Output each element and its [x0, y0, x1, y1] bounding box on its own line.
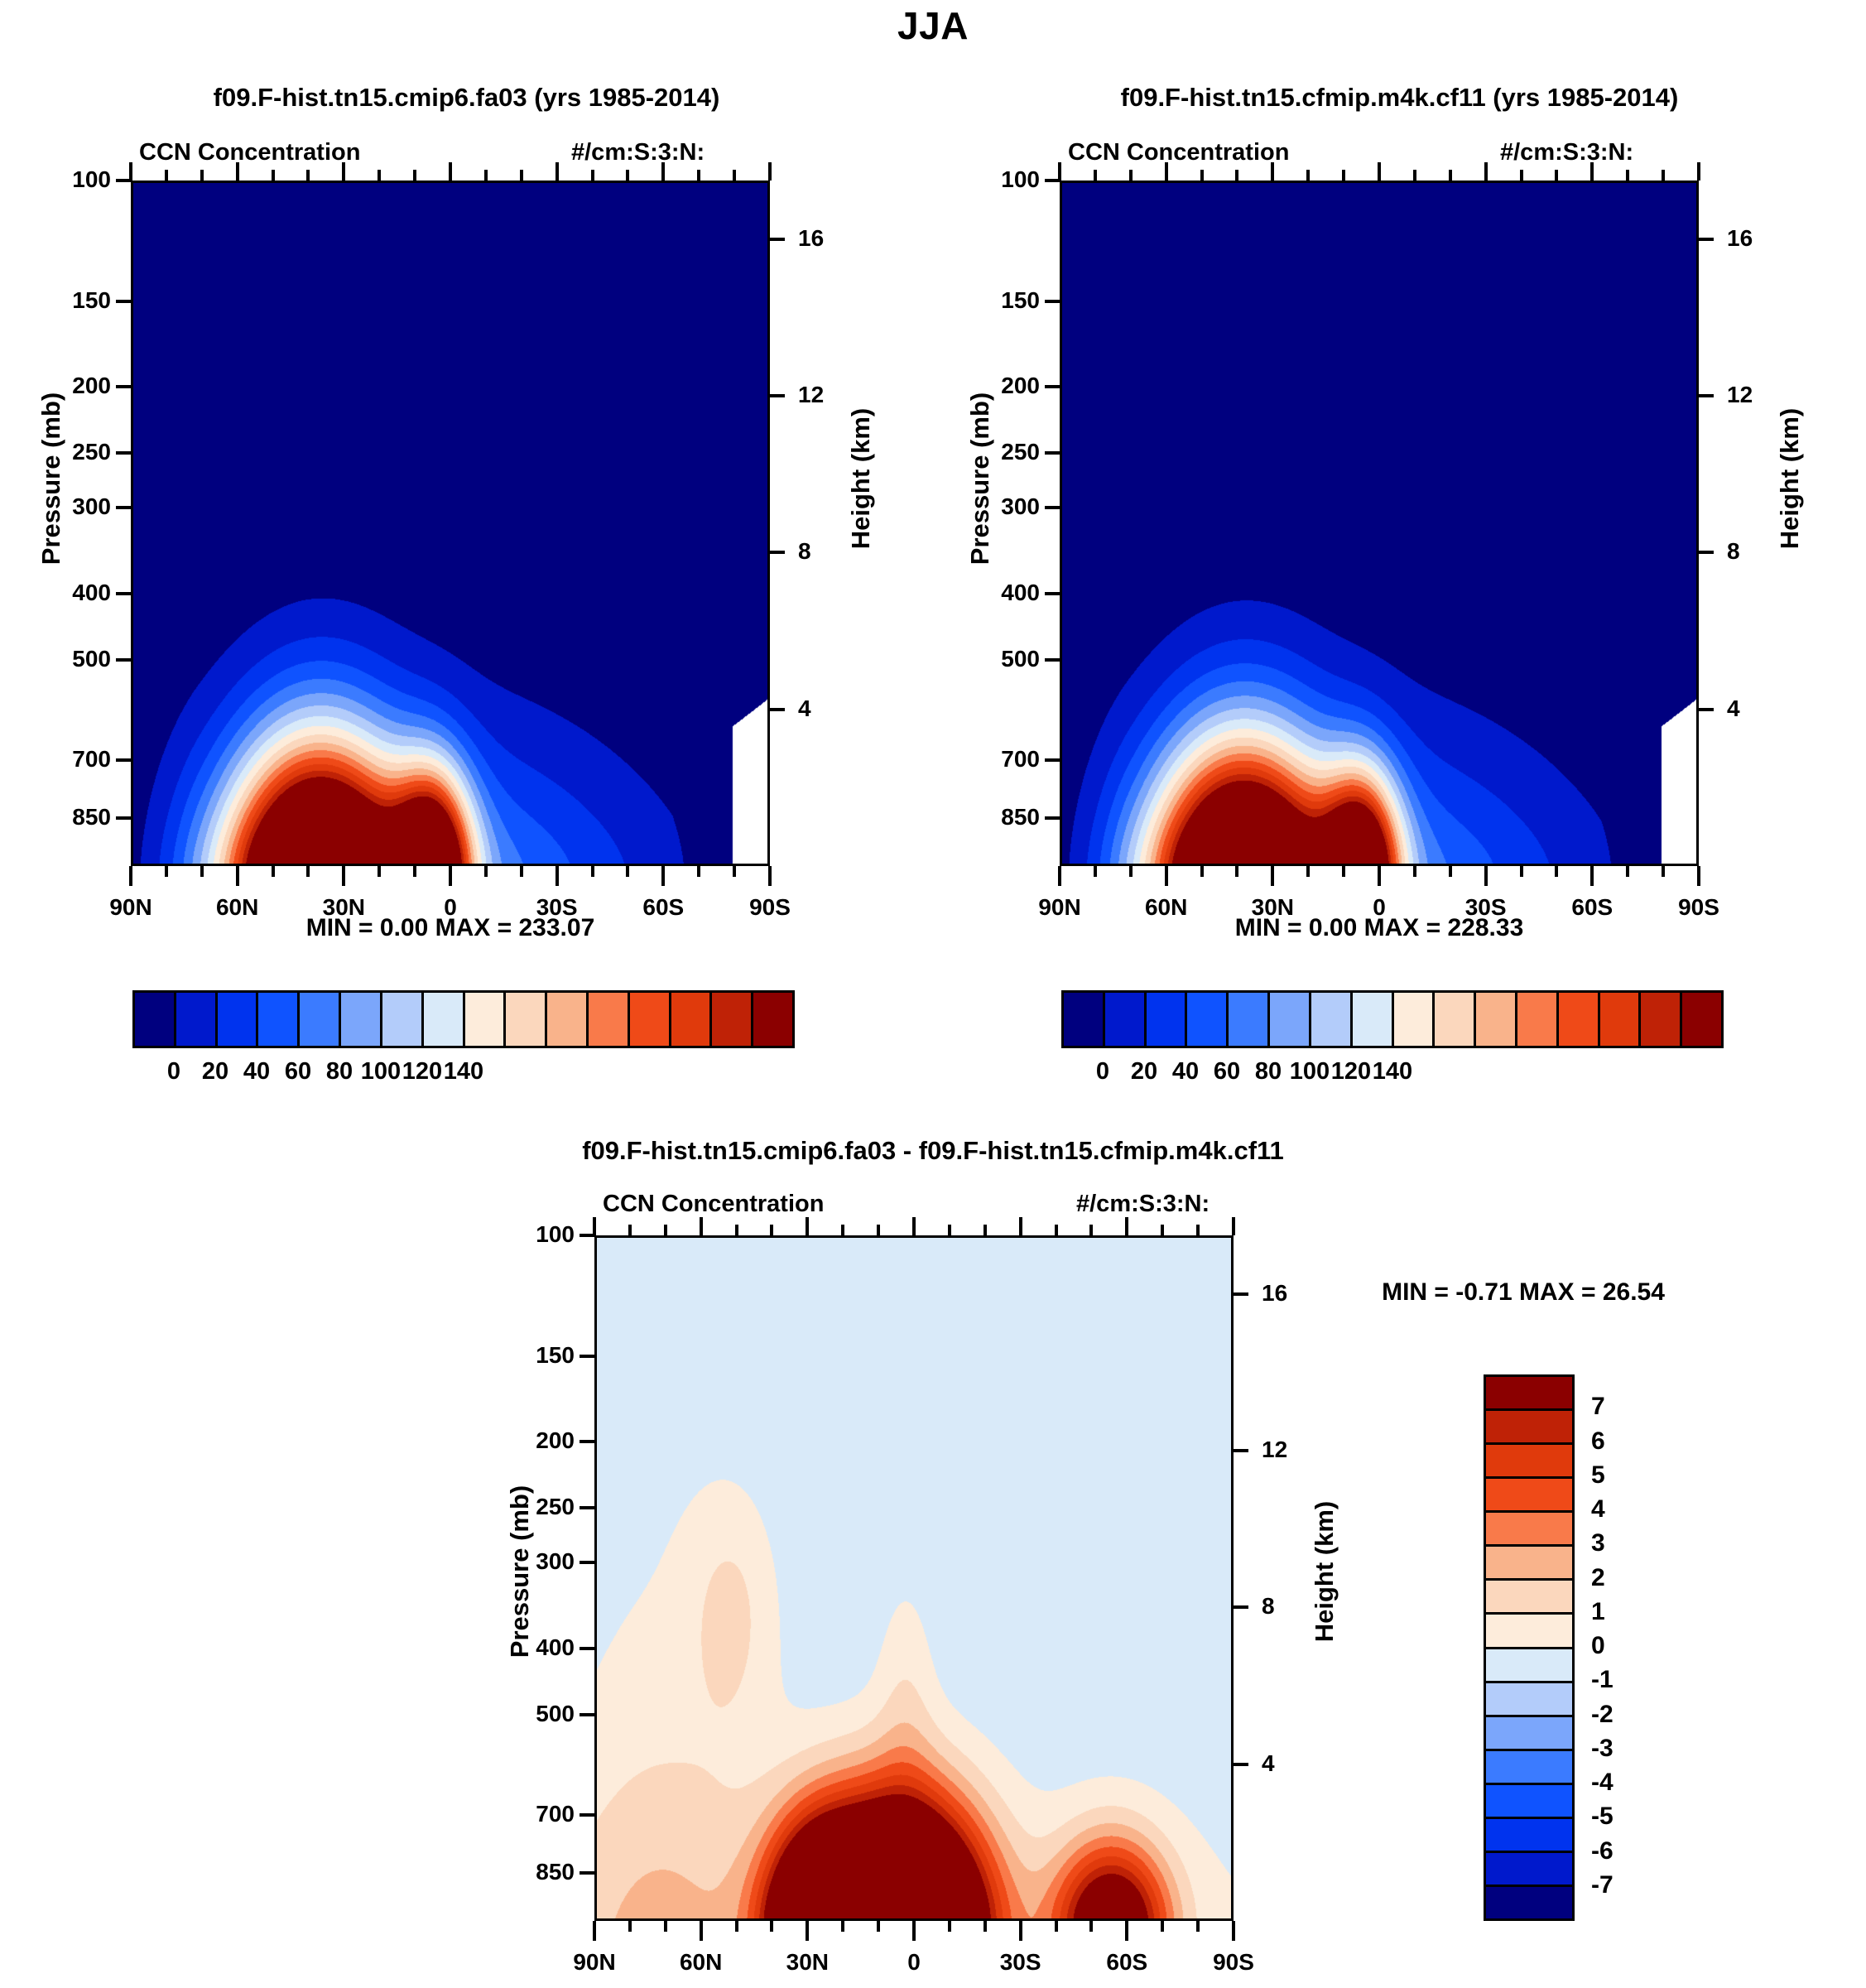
latitude-minor-tick	[1196, 1921, 1200, 1932]
latitude-minor-tick	[1235, 866, 1238, 877]
colorbar-swatch	[1486, 1785, 1572, 1819]
latitude-tick-mark	[1232, 1921, 1235, 1941]
pressure-tick-mark	[116, 451, 131, 455]
latitude-minor-tick	[1094, 866, 1097, 877]
latitude-minor-tick-top	[591, 170, 594, 181]
pressure-tick-label: 850	[508, 1859, 575, 1885]
height-tick-mark	[770, 394, 785, 397]
colorbar-tick-label: 7	[1591, 1393, 1666, 1421]
latitude-major-tick-top	[1165, 162, 1168, 181]
latitude-major-tick-top	[912, 1217, 916, 1235]
colorbar-swatch	[300, 993, 341, 1046]
colorbar-swatch	[1682, 993, 1721, 1046]
pressure-tick-label: 850	[974, 804, 1040, 830]
latitude-minor-tick	[1449, 866, 1452, 877]
latitude-major-tick-top	[1378, 162, 1381, 181]
pressure-tick-label: 250	[974, 439, 1040, 465]
latitude-tick-label: 0	[1321, 894, 1437, 921]
pressure-tick-label: 200	[974, 373, 1040, 399]
colorbar-tick-label: 3	[1591, 1529, 1666, 1557]
colorbar-swatch	[1486, 1717, 1572, 1751]
latitude-major-tick-top	[768, 162, 772, 181]
pressure-tick-label: 700	[508, 1801, 575, 1827]
colorbar-tick-label: -2	[1591, 1701, 1666, 1729]
colorbar-swatch	[1486, 1547, 1572, 1581]
pressure-tick-label: 250	[508, 1494, 575, 1520]
pressure-tick-label: 300	[508, 1548, 575, 1575]
colorbar-swatch	[1486, 1683, 1572, 1717]
latitude-tick-label: 60N	[1109, 894, 1224, 921]
latitude-minor-tick	[948, 1921, 951, 1932]
latitude-tick-mark	[661, 866, 665, 886]
latitude-major-tick-top	[806, 1217, 809, 1235]
panel-bottom-minmax: MIN = -0.71 MAX = 26.54	[1275, 1278, 1772, 1307]
colorbar-swatch	[1641, 993, 1682, 1046]
colorbar-swatch	[1270, 993, 1311, 1046]
latitude-minor-tick-top	[306, 170, 310, 181]
latitude-major-tick-top	[1697, 162, 1700, 181]
latitude-major-tick-top	[1232, 1217, 1235, 1235]
colorbar-swatch	[382, 993, 424, 1046]
height-tick-mark	[1699, 551, 1714, 554]
pressure-tick-mark	[116, 592, 131, 595]
latitude-tick-label: 0	[392, 894, 508, 921]
height-tick-mark	[1699, 394, 1714, 397]
colorbar-swatch	[258, 993, 300, 1046]
latitude-minor-tick	[735, 1921, 738, 1932]
latitude-minor-tick-top	[1555, 170, 1558, 181]
colorbar-tick-label: -3	[1591, 1735, 1666, 1763]
latitude-tick-label: 30S	[1428, 894, 1544, 921]
pressure-tick-label: 100	[974, 166, 1040, 193]
pressure-tick-label: 400	[45, 580, 111, 606]
pressure-tick-mark	[580, 1561, 594, 1564]
colorbar-tick-label: 0	[1591, 1632, 1666, 1660]
latitude-minor-tick-top	[628, 1225, 632, 1235]
pressure-tick-label: 150	[508, 1342, 575, 1369]
colorbar-tick-label: -6	[1591, 1837, 1666, 1865]
latitude-minor-tick	[733, 866, 736, 877]
latitude-minor-tick-top	[1449, 170, 1452, 181]
latitude-tick-label: 90N	[73, 894, 189, 921]
latitude-tick-label: 60S	[1534, 894, 1650, 921]
pressure-tick-mark	[580, 1713, 594, 1716]
latitude-tick-label: 60N	[180, 894, 296, 921]
latitude-tick-mark	[700, 1921, 703, 1941]
latitude-minor-tick-top	[664, 1225, 667, 1235]
latitude-tick-label: 30S	[963, 1949, 1079, 1976]
colorbar-swatch	[1486, 1513, 1572, 1547]
latitude-minor-tick	[306, 866, 310, 877]
panel-left-plot-area	[131, 181, 770, 866]
colorbar-swatch	[1486, 1751, 1572, 1785]
pressure-tick-mark	[116, 816, 131, 820]
pressure-tick-mark	[580, 1355, 594, 1358]
latitude-tick-mark	[1697, 866, 1700, 886]
panel-left-variable: CCN Concentration	[139, 139, 360, 166]
latitude-minor-tick	[664, 1921, 667, 1932]
colorbar-tick-label: 5	[1591, 1461, 1666, 1490]
latitude-minor-tick-top	[1413, 170, 1416, 181]
latitude-major-tick-top	[1484, 162, 1488, 181]
height-tick-mark	[1699, 708, 1714, 711]
latitude-minor-tick	[1055, 1921, 1058, 1932]
latitude-major-tick-top	[1590, 162, 1594, 181]
colorbar-difference	[1484, 1374, 1575, 1921]
latitude-minor-tick	[378, 866, 381, 877]
latitude-major-tick-top	[129, 162, 132, 181]
colorbar-swatch	[341, 993, 382, 1046]
height-tick-label: 16	[1727, 225, 1793, 252]
colorbar-swatch	[135, 993, 176, 1046]
pressure-tick-label: 100	[45, 166, 111, 193]
pressure-tick-label: 500	[508, 1701, 575, 1727]
latitude-minor-tick	[591, 866, 594, 877]
panel-right-yaxis-label: Pressure (mb)	[965, 387, 995, 570]
colorbar-swatch	[1105, 993, 1147, 1046]
latitude-tick-mark	[449, 866, 452, 886]
panel-bottom-title: f09.F-hist.tn15.cmip6.fa03 - f09.F-hist.…	[0, 1136, 1866, 1166]
colorbar-swatch	[1486, 1479, 1572, 1513]
latitude-tick-mark	[806, 1921, 809, 1941]
colorbar-tick-label: 140	[414, 1058, 513, 1085]
latitude-minor-tick	[1161, 1921, 1164, 1932]
pressure-tick-label: 850	[45, 804, 111, 830]
latitude-minor-tick-top	[983, 1225, 987, 1235]
height-tick-mark	[1234, 1763, 1248, 1766]
panel-left-yaxis-label: Pressure (mb)	[36, 387, 66, 570]
colorbar-swatch	[1486, 1853, 1572, 1887]
pressure-tick-label: 700	[974, 746, 1040, 773]
latitude-minor-tick-top	[948, 1225, 951, 1235]
latitude-tick-label: 0	[856, 1949, 972, 1976]
latitude-minor-tick	[484, 866, 488, 877]
latitude-major-tick-top	[700, 1217, 703, 1235]
pressure-tick-label: 150	[974, 287, 1040, 314]
latitude-minor-tick	[877, 1921, 880, 1932]
pressure-tick-label: 400	[974, 580, 1040, 606]
height-tick-label: 8	[1262, 1593, 1328, 1620]
colorbar-swatch	[1486, 1581, 1572, 1615]
colorbar-swatch	[1559, 993, 1600, 1046]
colorbar-swatch	[712, 993, 753, 1046]
colorbar-tick-label: -7	[1591, 1871, 1666, 1899]
pressure-tick-mark	[1045, 816, 1060, 820]
latitude-tick-label: 30N	[286, 894, 402, 921]
latitude-minor-tick-top	[697, 170, 700, 181]
latitude-tick-label: 60S	[1069, 1949, 1185, 1976]
panel-right-title: f09.F-hist.tn15.cfmip.m4k.cf11 (yrs 1985…	[933, 83, 1866, 113]
latitude-tick-mark	[912, 1921, 916, 1941]
height-tick-label: 8	[1727, 538, 1793, 565]
latitude-tick-mark	[1378, 866, 1381, 886]
colorbar-swatch	[1486, 1819, 1572, 1853]
latitude-major-tick-top	[449, 162, 452, 181]
latitude-minor-tick	[1200, 866, 1204, 877]
colorbar-right	[1061, 990, 1724, 1048]
colorbar-swatch	[1600, 993, 1642, 1046]
latitude-minor-tick	[1129, 866, 1133, 877]
pressure-tick-mark	[1045, 451, 1060, 455]
latitude-tick-mark	[1271, 866, 1274, 886]
height-tick-label: 12	[1727, 382, 1793, 408]
height-tick-label: 4	[1727, 696, 1793, 722]
latitude-tick-label: 90S	[1641, 894, 1757, 921]
pressure-tick-label: 300	[45, 493, 111, 520]
pressure-tick-mark	[1045, 658, 1060, 662]
latitude-minor-tick-top	[1235, 170, 1238, 181]
latitude-minor-tick-top	[1306, 170, 1310, 181]
latitude-tick-mark	[236, 866, 239, 886]
latitude-minor-tick	[1662, 866, 1665, 877]
panel-left-title: f09.F-hist.tn15.cmip6.fa03 (yrs 1985-201…	[0, 83, 933, 113]
latitude-minor-tick-top	[770, 1225, 773, 1235]
latitude-tick-label: 60S	[605, 894, 721, 921]
latitude-minor-tick	[697, 866, 700, 877]
latitude-tick-label: 30N	[1214, 894, 1330, 921]
pressure-tick-mark	[116, 758, 131, 762]
latitude-minor-tick-top	[165, 170, 168, 181]
colorbar-swatch	[1435, 993, 1476, 1046]
pressure-tick-mark	[580, 1440, 594, 1443]
latitude-minor-tick	[1555, 866, 1558, 877]
pressure-tick-label: 250	[45, 439, 111, 465]
panel-bottom-variable: CCN Concentration	[603, 1191, 824, 1218]
pressure-tick-label: 200	[508, 1427, 575, 1454]
latitude-minor-tick-top	[1089, 1225, 1093, 1235]
colorbar-left	[132, 990, 795, 1048]
latitude-minor-tick	[200, 866, 204, 877]
pressure-tick-mark	[116, 385, 131, 388]
colorbar-swatch	[1486, 1649, 1572, 1683]
height-tick-mark	[770, 551, 785, 554]
latitude-tick-label: 30N	[749, 1949, 865, 1976]
colorbar-tick-label: 1	[1591, 1598, 1666, 1626]
latitude-minor-tick-top	[1520, 170, 1523, 181]
panel-right-plot-area	[1060, 181, 1699, 866]
height-tick-label: 8	[798, 538, 864, 565]
pressure-tick-mark	[1045, 300, 1060, 303]
latitude-minor-tick	[165, 866, 168, 877]
latitude-tick-mark	[593, 1921, 596, 1941]
latitude-major-tick-top	[1019, 1217, 1022, 1235]
latitude-tick-mark	[129, 866, 132, 886]
colorbar-swatch	[1476, 993, 1517, 1046]
latitude-minor-tick-top	[1662, 170, 1665, 181]
latitude-minor-tick-top	[733, 170, 736, 181]
latitude-minor-tick-top	[1626, 170, 1629, 181]
latitude-minor-tick-top	[484, 170, 488, 181]
latitude-major-tick-top	[342, 162, 345, 181]
height-tick-mark	[1699, 238, 1714, 241]
latitude-minor-tick-top	[520, 170, 523, 181]
pressure-tick-mark	[580, 1813, 594, 1817]
latitude-tick-label: 90S	[1176, 1949, 1291, 1976]
latitude-minor-tick-top	[413, 170, 416, 181]
latitude-tick-label: 90S	[712, 894, 828, 921]
colorbar-swatch	[1353, 993, 1394, 1046]
latitude-minor-tick-top	[1094, 170, 1097, 181]
pressure-tick-label: 400	[508, 1634, 575, 1661]
colorbar-swatch	[547, 993, 589, 1046]
panel-bottom-units: #/cm:S:3:N:	[1076, 1191, 1210, 1218]
colorbar-tick-label: 4	[1591, 1495, 1666, 1523]
latitude-tick-label: 30S	[499, 894, 615, 921]
latitude-minor-tick-top	[1055, 1225, 1058, 1235]
height-tick-mark	[1234, 1605, 1248, 1609]
latitude-minor-tick-top	[841, 1225, 844, 1235]
figure-suptitle: JJA	[0, 3, 1866, 48]
colorbar-swatch	[1064, 993, 1105, 1046]
colorbar-swatch	[753, 993, 792, 1046]
colorbar-tick-label: -5	[1591, 1803, 1666, 1831]
panel-bottom-plot-area	[594, 1235, 1234, 1921]
latitude-major-tick-top	[661, 162, 665, 181]
pressure-tick-mark	[1045, 758, 1060, 762]
pressure-tick-mark	[580, 1647, 594, 1650]
panel-right-variable: CCN Concentration	[1068, 139, 1289, 166]
pressure-tick-mark	[116, 658, 131, 662]
latitude-minor-tick	[1413, 866, 1416, 877]
colorbar-swatch	[218, 993, 259, 1046]
colorbar-swatch	[1311, 993, 1353, 1046]
colorbar-swatch	[465, 993, 507, 1046]
latitude-minor-tick	[841, 1921, 844, 1932]
colorbar-swatch	[1187, 993, 1229, 1046]
pressure-tick-mark	[1045, 592, 1060, 595]
colorbar-tick-label: -4	[1591, 1769, 1666, 1797]
colorbar-swatch	[1229, 993, 1270, 1046]
pressure-tick-mark	[116, 506, 131, 509]
panel-right-units: #/cm:S:3:N:	[1500, 139, 1633, 166]
height-tick-mark	[1234, 1449, 1248, 1452]
colorbar-tick-label: 2	[1591, 1564, 1666, 1592]
latitude-minor-tick-top	[626, 170, 629, 181]
latitude-minor-tick	[1520, 866, 1523, 877]
latitude-minor-tick-top	[1129, 170, 1133, 181]
latitude-tick-label: 90N	[536, 1949, 652, 1976]
latitude-minor-tick-top	[272, 170, 275, 181]
latitude-tick-mark	[768, 866, 772, 886]
pressure-tick-label: 300	[974, 493, 1040, 520]
colorbar-swatch	[1394, 993, 1436, 1046]
pressure-tick-mark	[1045, 506, 1060, 509]
latitude-tick-label: 90N	[1002, 894, 1118, 921]
latitude-minor-tick	[983, 1921, 987, 1932]
latitude-minor-tick-top	[1342, 170, 1345, 181]
latitude-tick-mark	[1590, 866, 1594, 886]
height-tick-label: 16	[798, 225, 864, 252]
latitude-major-tick-top	[593, 1217, 596, 1235]
latitude-minor-tick-top	[200, 170, 204, 181]
latitude-minor-tick	[1306, 866, 1310, 877]
latitude-minor-tick-top	[378, 170, 381, 181]
latitude-minor-tick	[520, 866, 523, 877]
latitude-major-tick-top	[1271, 162, 1274, 181]
pressure-tick-mark	[580, 1871, 594, 1875]
latitude-minor-tick	[1089, 1921, 1093, 1932]
latitude-tick-mark	[555, 866, 559, 886]
latitude-major-tick-top	[555, 162, 559, 181]
colorbar-swatch	[1486, 1377, 1572, 1411]
colorbar-swatch	[176, 993, 218, 1046]
height-tick-label: 4	[1262, 1750, 1328, 1777]
panel-bottom-raxis-label: Height (km)	[1310, 1480, 1339, 1663]
latitude-minor-tick	[413, 866, 416, 877]
height-tick-label: 4	[798, 696, 864, 722]
latitude-tick-mark	[1484, 866, 1488, 886]
colorbar-swatch	[1486, 1887, 1572, 1918]
latitude-major-tick-top	[1058, 162, 1061, 181]
latitude-minor-tick-top	[1196, 1225, 1200, 1235]
colorbar-swatch	[506, 993, 547, 1046]
latitude-minor-tick	[1342, 866, 1345, 877]
colorbar-swatch	[1486, 1411, 1572, 1445]
pressure-tick-label: 100	[508, 1221, 575, 1248]
colorbar-swatch	[671, 993, 713, 1046]
pressure-tick-label: 500	[45, 646, 111, 672]
height-tick-mark	[770, 238, 785, 241]
latitude-tick-mark	[1165, 866, 1168, 886]
latitude-tick-mark	[342, 866, 345, 886]
latitude-minor-tick	[272, 866, 275, 877]
latitude-minor-tick	[1626, 866, 1629, 877]
latitude-minor-tick	[770, 1921, 773, 1932]
pressure-tick-label: 700	[45, 746, 111, 773]
colorbar-tick-label: 140	[1343, 1058, 1442, 1085]
latitude-tick-label: 60N	[643, 1949, 759, 1976]
colorbar-swatch	[424, 993, 465, 1046]
latitude-minor-tick-top	[1161, 1225, 1164, 1235]
pressure-tick-mark	[1045, 385, 1060, 388]
colorbar-swatch	[1147, 993, 1188, 1046]
latitude-minor-tick-top	[1200, 170, 1204, 181]
height-tick-mark	[770, 708, 785, 711]
colorbar-swatch	[1486, 1615, 1572, 1649]
latitude-major-tick-top	[1125, 1217, 1128, 1235]
colorbar-swatch	[630, 993, 671, 1046]
height-tick-label: 16	[1262, 1280, 1328, 1307]
latitude-major-tick-top	[236, 162, 239, 181]
figure-root: JJA f09.F-hist.tn15.cmip6.fa03 (yrs 1985…	[0, 0, 1866, 1988]
colorbar-swatch	[1517, 993, 1559, 1046]
latitude-minor-tick	[628, 1921, 632, 1932]
height-tick-mark	[1234, 1292, 1248, 1296]
pressure-tick-label: 500	[974, 646, 1040, 672]
latitude-minor-tick	[626, 866, 629, 877]
latitude-minor-tick-top	[877, 1225, 880, 1235]
height-tick-label: 12	[798, 382, 864, 408]
colorbar-tick-label: 6	[1591, 1427, 1666, 1456]
panel-left-units: #/cm:S:3:N:	[571, 139, 705, 166]
height-tick-label: 12	[1262, 1437, 1328, 1463]
pressure-tick-label: 150	[45, 287, 111, 314]
colorbar-swatch	[1486, 1445, 1572, 1479]
latitude-tick-mark	[1058, 866, 1061, 886]
latitude-tick-mark	[1125, 1921, 1128, 1941]
pressure-tick-label: 200	[45, 373, 111, 399]
colorbar-swatch	[589, 993, 630, 1046]
latitude-minor-tick-top	[735, 1225, 738, 1235]
pressure-tick-mark	[116, 300, 131, 303]
latitude-tick-mark	[1019, 1921, 1022, 1941]
pressure-tick-mark	[580, 1506, 594, 1509]
colorbar-tick-label: -1	[1591, 1666, 1666, 1694]
